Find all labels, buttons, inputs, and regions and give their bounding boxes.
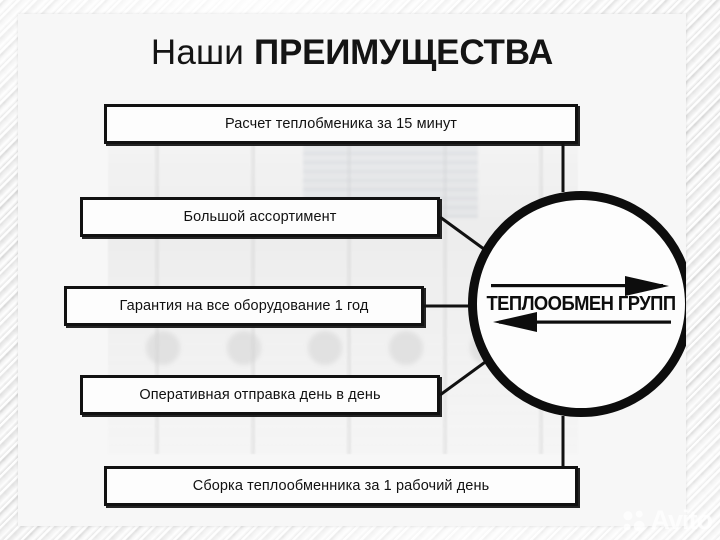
- feature-box: Сборка теплообменника за 1 рабочий день: [104, 466, 578, 506]
- logo-inner: ТЕПЛООБМЕН ГРУПП: [468, 191, 686, 417]
- feature-label: Большой ассортимент: [184, 209, 337, 225]
- feature-label: Расчет теплобменика за 15 минут: [225, 116, 457, 132]
- feature-label: Гарантия на все оборудование 1 год: [120, 298, 369, 314]
- slide-canvas: Наши ПРЕИМУЩЕСТВА Расчет теплобменика за…: [0, 0, 720, 540]
- feature-box: Расчет теплобменика за 15 минут: [104, 104, 578, 144]
- logo-company-name: ТЕПЛООБМЕН ГРУПП: [491, 272, 671, 336]
- feature-box: Гарантия на все оборудование 1 год: [64, 286, 424, 326]
- feature-box: Большой ассортимент: [80, 197, 440, 237]
- feature-box: Оперативная отправка день в день: [80, 375, 440, 415]
- feature-label: Сборка теплообменника за 1 рабочий день: [193, 478, 489, 494]
- logo-mark: ТЕПЛООБМЕН ГРУПП: [483, 272, 679, 336]
- company-logo-badge: ТЕПЛООБМЕН ГРУПП: [468, 191, 686, 417]
- feature-label: Оперативная отправка день в день: [139, 387, 380, 403]
- advantages-diagram: Расчет теплобменика за 15 минут Большой …: [18, 14, 686, 526]
- content-card: Наши ПРЕИМУЩЕСТВА Расчет теплобменика за…: [18, 14, 686, 526]
